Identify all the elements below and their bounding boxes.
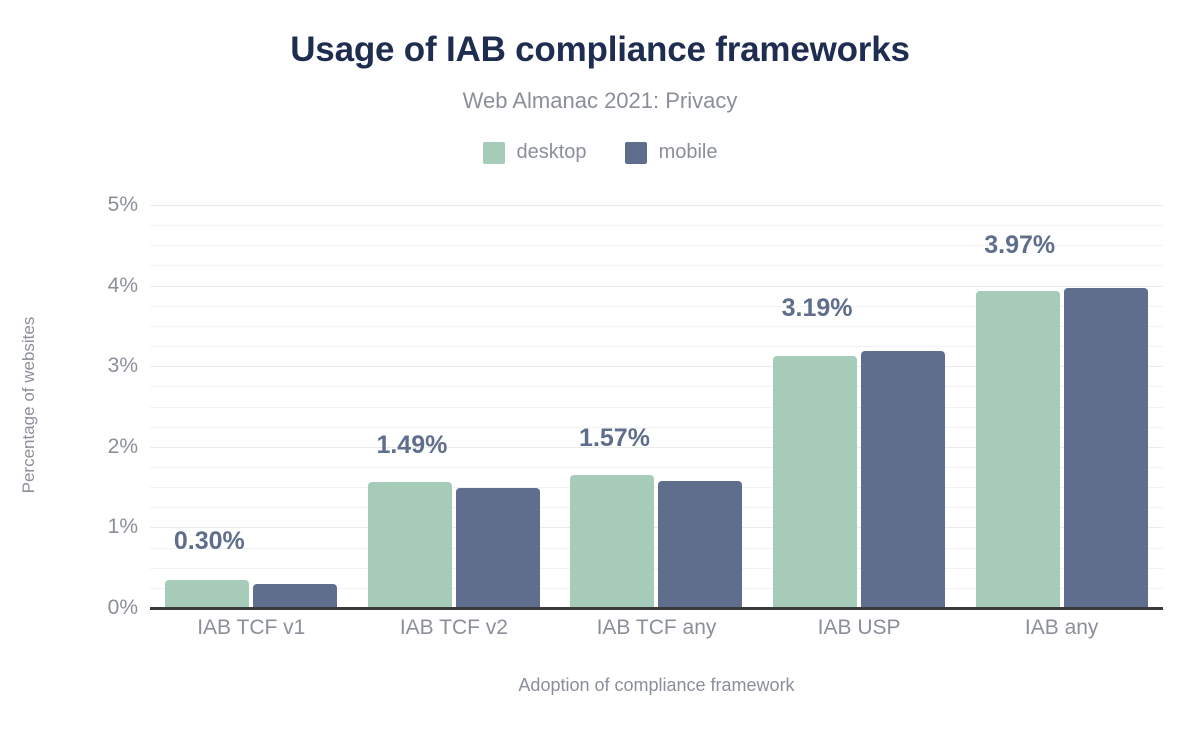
chart-title: Usage of IAB compliance frameworks — [0, 30, 1200, 70]
chart-subtitle: Web Almanac 2021: Privacy — [0, 88, 1200, 114]
legend-item-mobile[interactable]: mobile — [625, 141, 718, 164]
legend-item-desktop[interactable]: desktop — [483, 141, 587, 164]
x-axis-tick-label: IAB USP — [758, 616, 961, 640]
y-axis-tick-label: 2% — [18, 435, 138, 459]
bar-desktop[interactable] — [773, 356, 857, 608]
legend-swatch-icon — [483, 142, 505, 164]
x-axis-tick-label: IAB TCF any — [555, 616, 758, 640]
bar-mobile[interactable] — [456, 488, 540, 608]
x-axis-baseline — [150, 607, 1163, 610]
bar-desktop[interactable] — [570, 475, 654, 608]
bar-desktop[interactable] — [976, 291, 1060, 608]
bar-mobile[interactable] — [253, 584, 337, 608]
bar-group: 0.30% — [150, 205, 353, 608]
bar-mobile[interactable] — [658, 481, 742, 608]
bar-mobile[interactable] — [861, 351, 945, 608]
bar-data-label: 0.30% — [174, 527, 245, 556]
bar-group: 3.19% — [758, 205, 961, 608]
bar-groups: 0.30%1.49%1.57%3.19%3.97% — [150, 205, 1163, 608]
bar-desktop[interactable] — [368, 482, 452, 608]
plot-area: 0.30%1.49%1.57%3.19%3.97% — [150, 205, 1163, 608]
x-axis-ticks: IAB TCF v1IAB TCF v2IAB TCF anyIAB USPIA… — [150, 616, 1163, 640]
chart-legend: desktopmobile — [0, 141, 1200, 164]
legend-swatch-icon — [625, 142, 647, 164]
legend-label: desktop — [517, 141, 587, 164]
legend-label: mobile — [659, 141, 718, 164]
bar-desktop[interactable] — [165, 580, 249, 608]
bar-data-label: 1.57% — [579, 424, 650, 453]
bar-group: 1.57% — [555, 205, 758, 608]
y-axis-tick-label: 0% — [18, 596, 138, 620]
bar-pair — [976, 205, 1148, 608]
bar-group: 1.49% — [353, 205, 556, 608]
bar-mobile[interactable] — [1064, 288, 1148, 608]
bar-pair — [773, 205, 945, 608]
y-axis-tick-label: 5% — [18, 193, 138, 217]
y-axis-tick-label: 4% — [18, 274, 138, 298]
bar-pair — [570, 205, 742, 608]
x-axis-tick-label: IAB TCF v1 — [150, 616, 353, 640]
y-axis-tick-label: 3% — [18, 354, 138, 378]
bar-data-label: 1.49% — [376, 431, 447, 460]
y-axis-tick-label: 1% — [18, 515, 138, 539]
bar-group: 3.97% — [960, 205, 1163, 608]
y-axis-ticks: 0%1%2%3%4%5% — [8, 205, 138, 608]
bar-chart: Usage of IAB compliance frameworks Web A… — [0, 0, 1200, 742]
bar-data-label: 3.19% — [782, 294, 853, 323]
bar-pair — [368, 205, 540, 608]
x-axis-tick-label: IAB TCF v2 — [353, 616, 556, 640]
x-axis-title: Adoption of compliance framework — [150, 675, 1163, 696]
x-axis-tick-label: IAB any — [960, 616, 1163, 640]
bar-data-label: 3.97% — [984, 231, 1055, 260]
